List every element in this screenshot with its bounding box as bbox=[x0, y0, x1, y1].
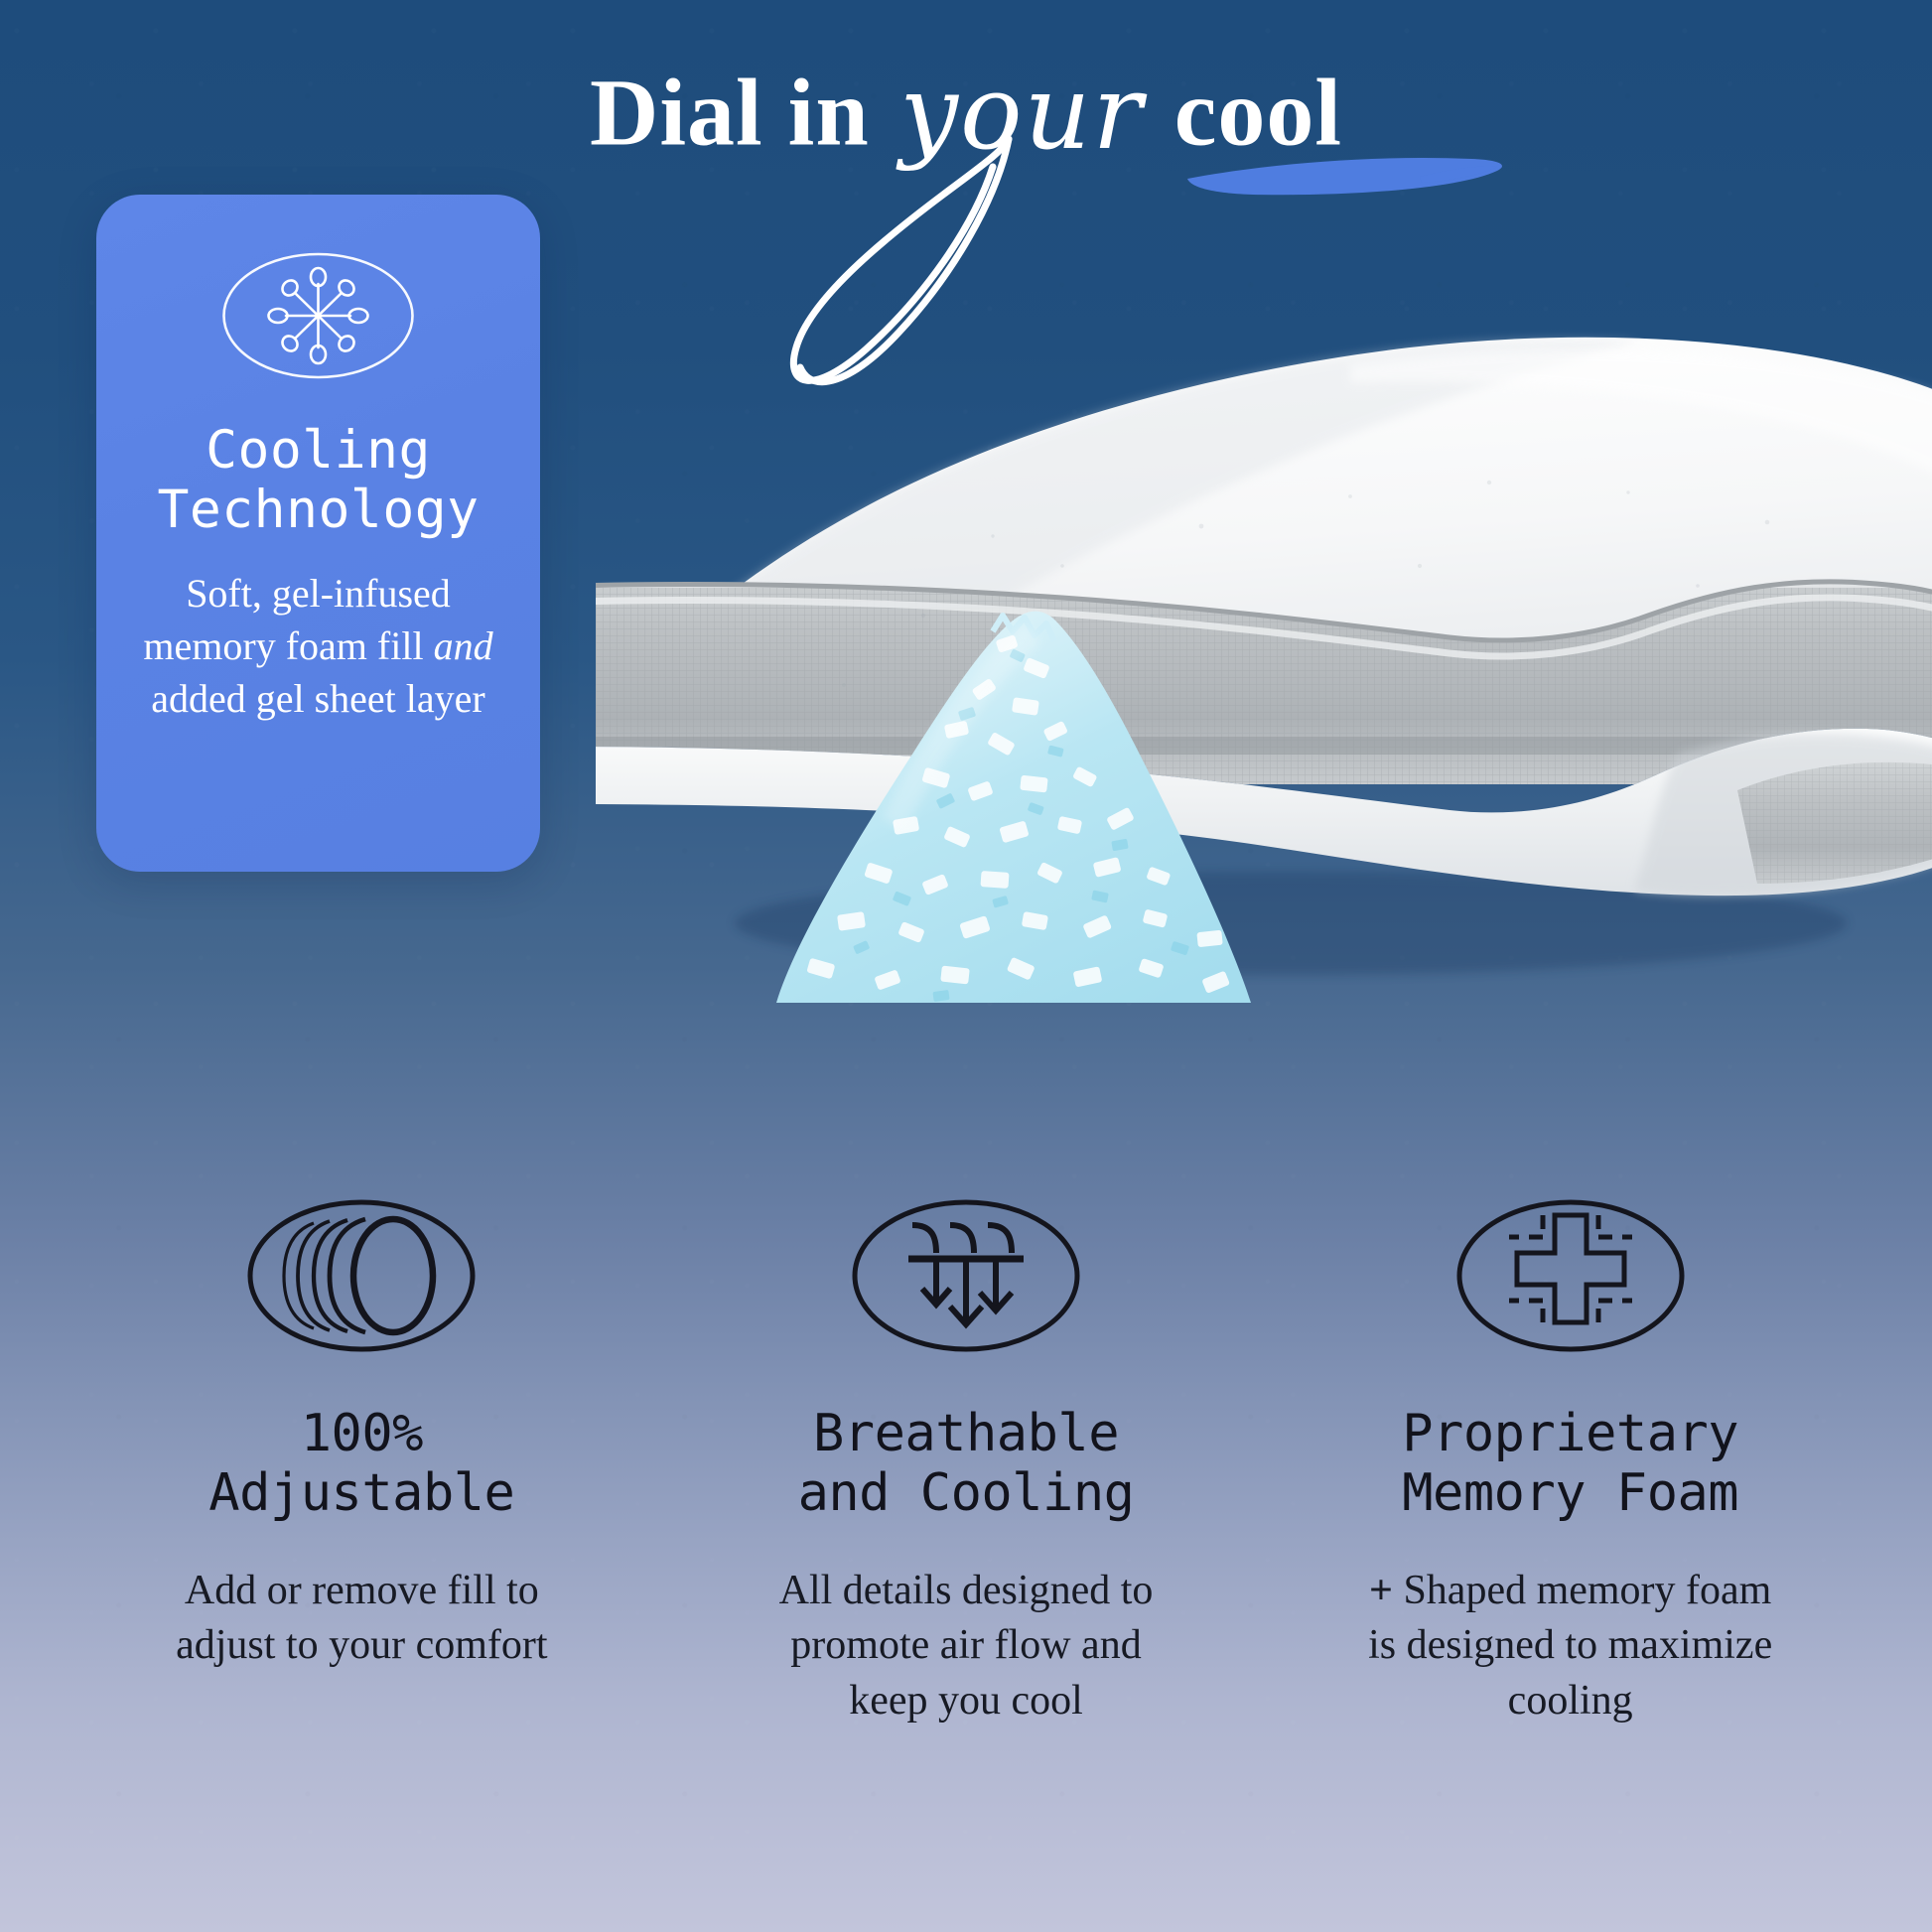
product-photo bbox=[596, 288, 1932, 1003]
feature-body-prefix: + bbox=[1369, 1568, 1403, 1613]
infographic-canvas: Dial in your cool bbox=[0, 0, 1932, 1932]
feature-title: Proprietary Memory Foam bbox=[1402, 1404, 1738, 1524]
headline-script-word: your bbox=[899, 52, 1144, 173]
feature-body: + Shaped memory foam is designed to maxi… bbox=[1362, 1564, 1779, 1730]
card-body-suffix: added gel sheet layer bbox=[151, 676, 485, 721]
card-body-italic: and bbox=[434, 623, 493, 668]
feature-columns: 100% Adjustable Add or remove fill to ad… bbox=[60, 1191, 1872, 1886]
feature-body: All details designed to promote air flow… bbox=[758, 1564, 1174, 1730]
feature-body: Add or remove fill to adjust to your com… bbox=[153, 1564, 570, 1675]
feature-body-text: All details designed to promote air flow… bbox=[779, 1568, 1154, 1725]
card-body: Soft, gel-infused memory foam fill and a… bbox=[130, 567, 507, 726]
feature-body-text: Shaped memory foam is designed to maximi… bbox=[1368, 1568, 1772, 1725]
card-title: Cooling Technology bbox=[157, 421, 479, 541]
feature-memory-foam: Proprietary Memory Foam + Shaped memory … bbox=[1268, 1191, 1872, 1886]
snowflake-icon bbox=[216, 244, 420, 387]
card-body-prefix: Soft, gel-infused memory foam fill bbox=[143, 571, 450, 668]
headline-part2: cool bbox=[1174, 60, 1342, 166]
feature-title: Breathable and Cooling bbox=[798, 1404, 1135, 1524]
feature-title: 100% Adjustable bbox=[208, 1404, 514, 1524]
feature-body-text: Add or remove fill to adjust to your com… bbox=[176, 1568, 547, 1669]
layered-circles-icon bbox=[242, 1191, 481, 1360]
airflow-down-arrows-icon bbox=[847, 1191, 1085, 1360]
feature-adjustable: 100% Adjustable Add or remove fill to ad… bbox=[60, 1191, 664, 1886]
headline-underline bbox=[1187, 158, 1502, 195]
cooling-technology-card: Cooling Technology Soft, gel-infused mem… bbox=[96, 195, 540, 872]
plus-cross-icon bbox=[1451, 1191, 1690, 1360]
feature-breathable: Breathable and Cooling All details desig… bbox=[664, 1191, 1269, 1886]
headline-part1: Dial in bbox=[590, 60, 870, 166]
